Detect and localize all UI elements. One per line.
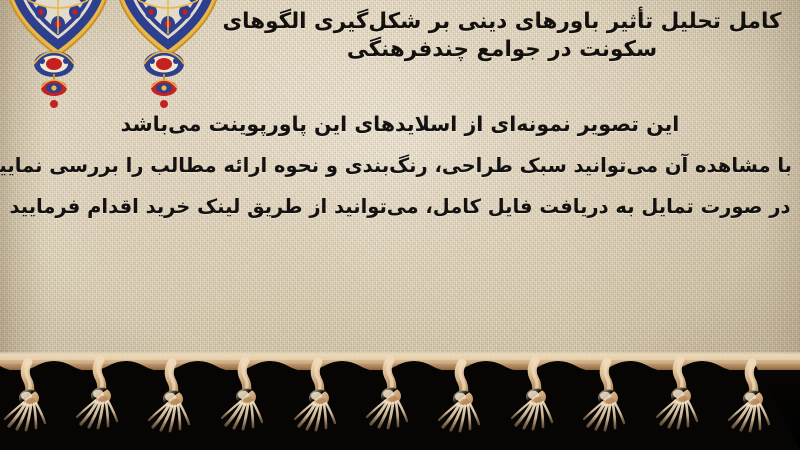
- slide-title-line-1: کامل تحلیل تأثیر باورهای دینی بر شکل‌گیر…: [222, 8, 782, 36]
- slide-body-line-2: با مشاهده آن می‌توانید سبک طراحی، رنگ‌بن…: [8, 154, 792, 177]
- slide-title: کامل تحلیل تأثیر باورهای دینی بر شکل‌گیر…: [222, 8, 782, 64]
- slide-canvas: کامل تحلیل تأثیر باورهای دینی بر شکل‌گیر…: [0, 0, 800, 450]
- carpet-bottom-edge: [0, 348, 800, 450]
- persian-medallion-ornament-left: [8, 0, 120, 116]
- slide-body-line-1: این تصویر نمونه‌ای از اسلایدهای این پاور…: [8, 112, 792, 136]
- persian-medallion-ornament-right: [118, 0, 230, 116]
- slide-body-line-3: در صورت تمایل به دریافت فایل کامل، می‌تو…: [8, 195, 792, 218]
- slide-body: این تصویر نمونه‌ای از اسلایدهای این پاور…: [8, 112, 792, 218]
- slide-title-line-2: سکونت در جوامع چندفرهنگی: [222, 36, 782, 64]
- carpet-fringe-tassels: [0, 348, 800, 450]
